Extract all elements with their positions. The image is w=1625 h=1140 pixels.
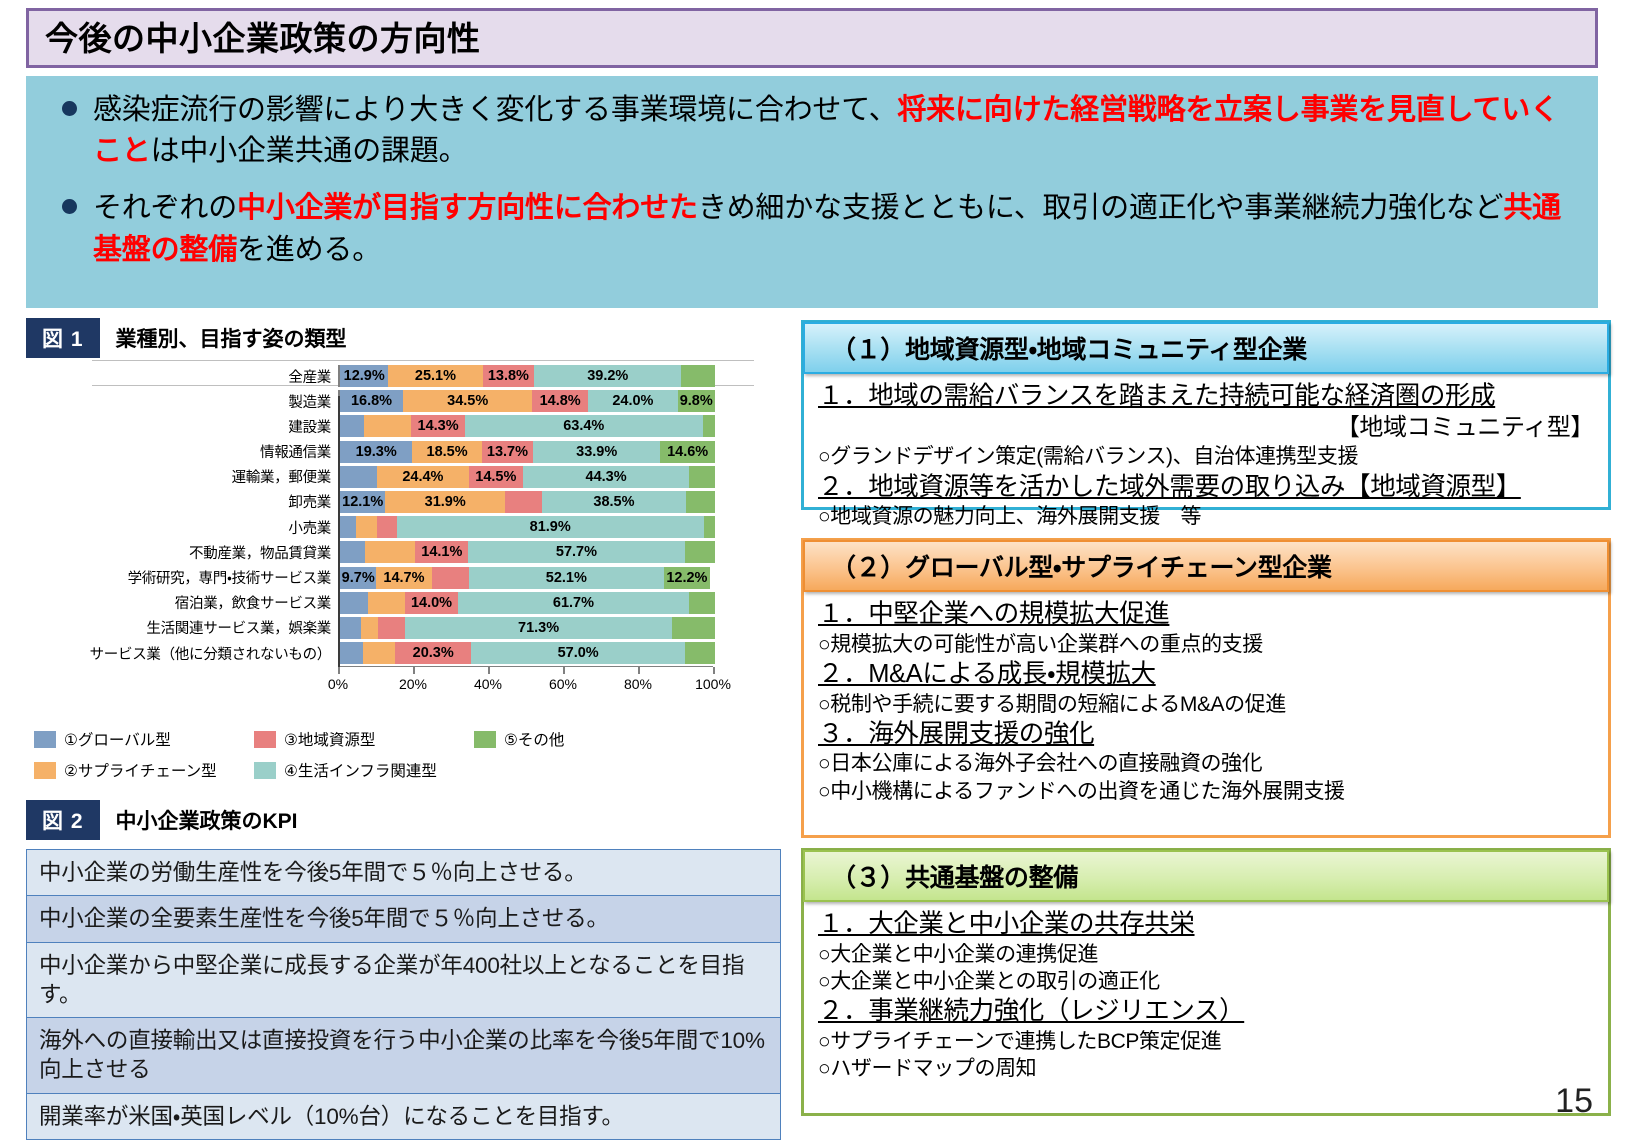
legend-swatch [474, 731, 496, 748]
chart-top-rule [92, 360, 754, 361]
chart-segment [340, 415, 364, 437]
legend-item: ⑤その他 [474, 728, 694, 750]
panel-item-sub: ○日本公庫による海外子会社への直接融資の強化 [818, 750, 1594, 777]
chart-category-label: 卸売業 [26, 491, 338, 512]
chart-segment [685, 541, 715, 563]
banner-bullet-text: それぞれの中小企業が目指す方向性に合わせたきめ細かな支援とともに、取引の適正化や… [93, 188, 1580, 270]
chart-category-label: 製造業 [26, 391, 338, 412]
chart-row: 建設業14.3%63.4% [26, 414, 754, 438]
chart-segment: 63.4% [465, 415, 703, 437]
kpi-row-text: 海外への直接輸出又は直接投資を行う中小企業の比率を今後5年間で10%向上させる [27, 1018, 781, 1094]
chart-segment [356, 516, 377, 538]
chart-stacked-bar: 12.1%31.9%38.5% [338, 491, 715, 513]
chart-stacked-bar: 14.0%61.7% [338, 592, 715, 614]
panel-item-sub: ○グランドデザイン策定(需給バランス)、自治体連携型支援 [818, 443, 1594, 470]
legend-swatch [254, 731, 276, 748]
chart-y-axis-line [338, 396, 340, 667]
chart-stacked-bar: 24.4%14.5%44.3% [338, 466, 715, 488]
panel3-body: １．大企業と中小企業の共存共栄○大企業と中小企業の連携促進○大企業と中小企業との… [804, 902, 1608, 1090]
legend-label: ②サプライチェーン型 [64, 759, 217, 781]
chart-row: 学術研究，専門・技術サービス業9.7%14.7%52.1%12.2% [26, 566, 754, 590]
chart-stacked-bar: 20.3%57.0% [338, 642, 715, 664]
panel-global-supplychain: （２）グローバル型・サプライチェーン型企業 １．中堅企業への規模拡大促進○規模拡… [801, 538, 1611, 838]
kpi-row-text: 開業率が米国・英国レベル（10%台）になることを目指す。 [27, 1093, 781, 1139]
panel-item-heading: １．地域の需給バランスを踏まえた持続可能な経済圏の形成 [818, 380, 1594, 413]
chart-category-label: 全産業 [26, 366, 338, 387]
chart-segment: 20.3% [395, 642, 471, 664]
banner-bullet-list: 感染症流行の影響により大きく変化する事業環境に合わせて、将来に向けた経営戦略を立… [44, 90, 1580, 271]
chart-stacked-bar: 71.3% [338, 617, 715, 639]
plain-text: 感染症流行の影響により大きく変化する事業環境に合わせて、 [93, 94, 897, 126]
chart-segment: 34.5% [403, 390, 532, 412]
chart-segment: 44.3% [523, 466, 689, 488]
chart-stacked-bar: 9.7%14.7%52.1%12.2% [338, 567, 715, 589]
chart-category-label: 宿泊業，飲食サービス業 [26, 592, 338, 613]
chart-row: サービス業（他に分類されないもの）20.3%57.0% [26, 641, 754, 665]
panel-item-heading: １．大企業と中小企業の共存共栄 [818, 908, 1594, 941]
chart-segment: 31.9% [385, 491, 505, 513]
axis-tick-label: 100% [695, 676, 731, 692]
bullet-dot-icon [62, 199, 77, 214]
legend-swatch [34, 762, 56, 779]
banner-bullet: それぞれの中小企業が目指す方向性に合わせたきめ細かな支援とともに、取引の適正化や… [44, 188, 1580, 270]
legend-swatch [34, 731, 56, 748]
banner-bullet: 感染症流行の影響により大きく変化する事業環境に合わせて、将来に向けた経営戦略を立… [44, 90, 1580, 172]
chart-segment: 61.7% [458, 592, 689, 614]
kpi-row: 中小企業から中堅企業に成長する企業が年400社以上となることを目指す。 [27, 942, 781, 1018]
axis-tick [413, 667, 415, 674]
chart-category-label: 生活関連サービス業，娯楽業 [26, 617, 338, 638]
chart-segment: 9.7% [340, 567, 376, 589]
plain-text: は中小企業共通の課題。 [151, 135, 468, 167]
chart-segment: 25.1% [388, 365, 482, 387]
chart-stacked-bar: 19.3%18.5%13.7%33.9%14.6% [338, 441, 715, 463]
chart-row: 宿泊業，飲食サービス業14.0%61.7% [26, 591, 754, 615]
kpi-row-text: 中小企業の労働生産性を今後5年間で５％向上させる。 [27, 850, 781, 896]
chart-category-label: 学術研究，専門・技術サービス業 [26, 567, 338, 588]
chart-row: 卸売業12.1%31.9%38.5% [26, 490, 754, 514]
legend-item: ②サプライチェーン型 [34, 759, 254, 781]
axis-tick-label: 80% [624, 676, 652, 692]
chart-stacked-bar: 16.8%34.5%14.8%24.0%9.8% [338, 390, 715, 412]
chart-segment [368, 592, 405, 614]
chart-segment: 24.4% [377, 466, 469, 488]
panel-item-heading: ２．M&Aによる成長・規模拡大 [818, 658, 1594, 691]
chart-segment [378, 617, 405, 639]
panel-item-sub: ○地域資源の魅力向上、海外展開支援 等 [818, 503, 1594, 530]
chart-row: 小売業81.9% [26, 515, 754, 539]
legend-label: ④生活インフラ関連型 [284, 759, 437, 781]
chart-row: 情報通信業19.3%18.5%13.7%33.9%14.6% [26, 440, 754, 464]
chart-segment: 13.7% [482, 441, 533, 463]
panel2-body: １．中堅企業への規模拡大促進○規模拡大の可能性が高い企業群への重点的支援２．M&… [804, 592, 1608, 813]
axis-tick [338, 667, 340, 674]
fig2-tag: 図 2 [26, 800, 100, 840]
legend-swatch [254, 762, 276, 779]
chart-segment [340, 516, 356, 538]
plain-text: きめ細かな支援とともに、取引の適正化や事業継続力強化など [698, 192, 1504, 224]
chart-segment: 14.8% [532, 390, 588, 412]
fig1-tag: 図 1 [26, 318, 100, 358]
chart-segment: 39.2% [534, 365, 681, 387]
chart-category-label: 不動産業，物品賃貸業 [26, 542, 338, 563]
chart-segment [364, 415, 411, 437]
panel-item-sub: ○税制や手続に要する期間の短縮によるM&Aの促進 [818, 691, 1594, 718]
axis-tick [713, 667, 715, 674]
legend-label: ①グローバル型 [64, 728, 171, 750]
chart-segment [685, 642, 715, 664]
chart-row: 製造業16.8%34.5%14.8%24.0%9.8% [26, 389, 754, 413]
slide-title-bar: 今後の中小企業政策の方向性 [26, 8, 1598, 68]
chart-segment [703, 415, 715, 437]
chart-category-label: 情報通信業 [26, 441, 338, 462]
chart-segment [377, 516, 397, 538]
panel2-heading: （２）グローバル型・サプライチェーン型企業 [803, 540, 1609, 592]
panel3-heading: （３）共通基盤の整備 [803, 850, 1609, 902]
chart-stacked-bar: 12.9%25.1%13.8%39.2% [338, 365, 715, 387]
chart-category-label: 建設業 [26, 416, 338, 437]
kpi-row: 中小企業の労働生産性を今後5年間で５％向上させる。 [27, 850, 781, 896]
chart-segment: 14.1% [415, 541, 468, 563]
chart-segment [361, 617, 378, 639]
chart-segment [672, 617, 715, 639]
panel1-body: １．地域の需給バランスを踏まえた持続可能な経済圏の形成【地域コミュニティ型】○グ… [804, 374, 1608, 539]
chart-segment: 12.2% [664, 567, 710, 589]
legend-label: ③地域資源型 [284, 728, 375, 750]
panel-item-sub: ○ハザードマップの周知 [818, 1055, 1594, 1082]
page-title: 今後の中小企業政策の方向性 [29, 22, 481, 55]
emphasis-text: 中小企業が目指す方向性に合わせた [237, 192, 698, 224]
chart-segment [363, 642, 395, 664]
chart-segment: 14.7% [376, 567, 431, 589]
kpi-row: 中小企業の全要素生産性を今後5年間で５％向上させる。 [27, 896, 781, 942]
chart-stacked-bar: 81.9% [338, 516, 715, 538]
chart-segment: 14.0% [405, 592, 458, 614]
panel-item-note: 【地域コミュニティ型】 [818, 413, 1594, 444]
fig2-title: 中小企業政策のKPI [116, 805, 298, 835]
kpi-row-text: 中小企業から中堅企業に成長する企業が年400社以上となることを目指す。 [27, 942, 781, 1018]
panel1-heading: （１）地域資源型・地域コミュニティ型企業 [803, 322, 1609, 374]
axis-tick [563, 667, 565, 674]
chart-bar-rows: 全産業12.9%25.1%13.8%39.2%製造業16.8%34.5%14.8… [26, 364, 754, 665]
panel-item-heading: ２．地域資源等を活かした域外需要の取り込み【地域資源型】 [818, 471, 1594, 504]
panel-item-sub: ○中小機構によるファンドへの出資を通じた海外展開支援 [818, 778, 1594, 805]
kpi-row-text: 中小企業の全要素生産性を今後5年間で５％向上させる。 [27, 896, 781, 942]
chart-segment: 14.6% [660, 441, 715, 463]
chart-segment: 14.5% [469, 466, 523, 488]
chart-segment [365, 541, 416, 563]
legend-label: ⑤その他 [504, 728, 564, 750]
kpi-table: 中小企業の労働生産性を今後5年間で５％向上させる。中小企業の全要素生産性を今後5… [26, 849, 781, 1140]
axis-tick-label: 20% [399, 676, 427, 692]
panel-common-base: （３）共通基盤の整備 １．大企業と中小企業の共存共栄○大企業と中小企業の連携促進… [801, 848, 1611, 1116]
panel-item-heading: １．中堅企業への規模拡大促進 [818, 598, 1594, 631]
legend-item: ③地域資源型 [254, 728, 474, 750]
summary-banner: 感染症流行の影響により大きく変化する事業環境に合わせて、将来に向けた経営戦略を立… [26, 76, 1598, 308]
chart-segment [505, 491, 542, 513]
kpi-row: 開業率が米国・英国レベル（10%台）になることを目指す。 [27, 1093, 781, 1139]
banner-bullet-text: 感染症流行の影響により大きく変化する事業環境に合わせて、将来に向けた経営戦略を立… [93, 90, 1580, 172]
chart-segment: 57.7% [468, 541, 684, 563]
chart-segment: 14.3% [411, 415, 465, 437]
chart-segment [689, 466, 715, 488]
fig1-title: 業種別、目指す姿の類型 [116, 323, 347, 353]
chart-segment [689, 592, 715, 614]
chart-segment: 18.5% [412, 441, 481, 463]
chart-segment: 24.0% [588, 390, 678, 412]
chart-segment: 12.1% [340, 491, 385, 513]
chart-segment: 16.8% [340, 390, 403, 412]
panel-item-sub: ○大企業と中小企業の連携促進 [818, 941, 1594, 968]
chart-segment: 81.9% [397, 516, 704, 538]
chart-segment: 9.8% [678, 390, 715, 412]
page-number: 15 [1555, 1082, 1593, 1121]
chart-row: 不動産業，物品賃貸業14.1%57.7% [26, 540, 754, 564]
chart-x-axis: 0%20%40%60%80%100% [338, 666, 713, 697]
chart-segment [432, 567, 469, 589]
panel-item-sub: ○規模拡大の可能性が高い企業群への重点的支援 [818, 631, 1594, 658]
chart-stacked-bar: 14.1%57.7% [338, 541, 715, 563]
plain-text: それぞれの [93, 192, 237, 224]
chart-stacked-bar: 14.3%63.4% [338, 415, 715, 437]
panel-item-heading: ３．海外展開支援の強化 [818, 718, 1594, 751]
chart-segment [340, 642, 363, 664]
chart-category-label: サービス業（他に分類されないもの） [26, 643, 338, 664]
axis-tick-label: 60% [549, 676, 577, 692]
industry-type-chart: 全産業12.9%25.1%13.8%39.2%製造業16.8%34.5%14.8… [26, 364, 754, 714]
axis-tick-label: 40% [474, 676, 502, 692]
chart-category-label: 運輸業，郵便業 [26, 466, 338, 487]
chart-segment [704, 516, 715, 538]
panel-item-sub: ○サプライチェーンで連携したBCP策定促進 [818, 1028, 1594, 1055]
chart-segment: 38.5% [542, 491, 686, 513]
chart-segment: 19.3% [340, 441, 412, 463]
chart-segment: 71.3% [405, 617, 672, 639]
chart-segment [681, 365, 715, 387]
panel-item-sub: ○大企業と中小企業との取引の適正化 [818, 968, 1594, 995]
chart-legend: ①グローバル型③地域資源型⑤その他②サプライチェーン型④生活インフラ関連型 [34, 728, 734, 790]
bullet-dot-icon [62, 101, 77, 116]
chart-segment [340, 541, 365, 563]
panel-regional-resource: （１）地域資源型・地域コミュニティ型企業 １．地域の需給バランスを踏まえた持続可… [801, 320, 1611, 510]
chart-segment: 12.9% [340, 365, 388, 387]
chart-segment: 13.8% [483, 365, 535, 387]
chart-row: 生活関連サービス業，娯楽業71.3% [26, 616, 754, 640]
chart-category-label: 小売業 [26, 517, 338, 538]
chart-segment: 57.0% [471, 642, 685, 664]
chart-segment [686, 491, 715, 513]
left-column: 図 1 業種別、目指す姿の類型 全産業12.9%25.1%13.8%39.2%製… [26, 318, 796, 1140]
fig1-header: 図 1 業種別、目指す姿の類型 [26, 318, 796, 358]
plain-text: を進める。 [237, 234, 381, 266]
chart-segment [340, 592, 368, 614]
axis-tick [488, 667, 490, 674]
legend-item: ①グローバル型 [34, 728, 254, 750]
chart-segment: 33.9% [533, 441, 660, 463]
kpi-row: 海外への直接輸出又は直接投資を行う中小企業の比率を今後5年間で10%向上させる [27, 1018, 781, 1094]
legend-item: ④生活インフラ関連型 [254, 759, 474, 781]
slide-root: 今後の中小企業政策の方向性 感染症流行の影響により大きく変化する事業環境に合わせ… [0, 0, 1625, 1125]
chart-row: 運輸業，郵便業24.4%14.5%44.3% [26, 465, 754, 489]
fig2-header: 図 2 中小企業政策のKPI [26, 800, 796, 840]
chart-segment [340, 617, 361, 639]
chart-segment: 52.1% [469, 567, 664, 589]
axis-tick-label: 0% [328, 676, 348, 692]
chart-segment [340, 466, 377, 488]
panel-item-heading: ２．事業継続力強化（レジリエンス） [818, 995, 1594, 1028]
axis-tick [638, 667, 640, 674]
chart-row: 全産業12.9%25.1%13.8%39.2% [26, 364, 754, 388]
